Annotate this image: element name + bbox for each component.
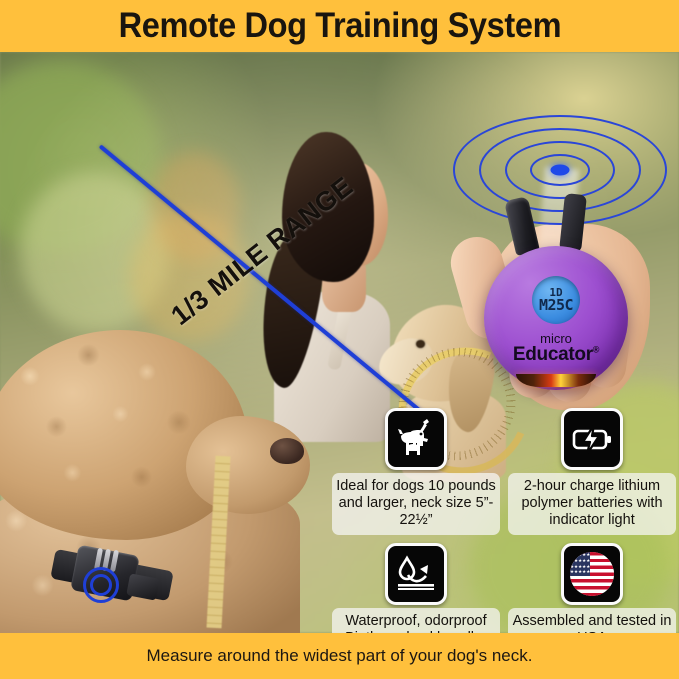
signal-waves-icon	[452, 110, 668, 230]
footer-text: Measure around the widest part of your d…	[147, 646, 533, 666]
remote-brand: micro Educator®	[484, 332, 628, 364]
battery-charge-icon	[561, 408, 623, 470]
feature-grid: Ideal for dogs 10 pounds and larger, nec…	[332, 408, 676, 633]
feature-card-usa: ★★★★★ ★★★★★ ★★★★★ ★★★★★ Assembled and te…	[508, 543, 676, 633]
feature-text: Ideal for dogs 10 pounds and larger, nec…	[332, 473, 500, 535]
waterproof-droplet-icon	[385, 543, 447, 605]
remote-lcd-display: 1D M25C	[532, 276, 580, 324]
brand-educator: Educator®	[484, 345, 628, 364]
page-title: Remote Dog Training System	[118, 6, 561, 46]
feature-text: Waterproof, odorproof Biothane buckle co…	[332, 608, 500, 633]
feature-text: 2-hour charge lithium polymer batteries …	[508, 473, 676, 535]
doodle-nose	[270, 438, 304, 464]
target-ring	[90, 574, 112, 596]
flag-canton: ★★★★★ ★★★★★ ★★★★★ ★★★★★	[570, 552, 590, 575]
usa-flag-icon: ★★★★★ ★★★★★ ★★★★★ ★★★★★	[561, 543, 623, 605]
retriever-eye	[416, 340, 425, 348]
feature-card-battery: 2-hour charge lithium polymer batteries …	[508, 408, 676, 535]
dog-with-leash-icon	[385, 408, 447, 470]
feature-text: Assembled and tested in USA	[508, 608, 676, 633]
signal-source-dot	[551, 165, 570, 176]
doodle-snout	[186, 416, 310, 514]
target-circle-icon	[84, 568, 118, 602]
footer-banner: Measure around the widest part of your d…	[0, 633, 679, 679]
indicator-light-bar	[516, 374, 596, 387]
product-photo: 1D M25C micro Educator® 1/3 MILE RANGE	[0, 52, 679, 633]
brand-educator-text: Educator	[513, 344, 593, 365]
lcd-main-value: M25C	[539, 298, 573, 313]
header-banner: Remote Dog Training System	[0, 0, 679, 52]
feature-card-waterproof: Waterproof, odorproof Biothane buckle co…	[332, 543, 500, 633]
product-infographic: Remote Dog Training System	[0, 0, 679, 679]
flag-circle: ★★★★★ ★★★★★ ★★★★★ ★★★★★	[570, 552, 614, 596]
registered-mark: ®	[593, 345, 599, 355]
remote-transmitter[interactable]: 1D M25C micro Educator®	[484, 246, 628, 390]
feature-card-dog-size: Ideal for dogs 10 pounds and larger, nec…	[332, 408, 500, 535]
